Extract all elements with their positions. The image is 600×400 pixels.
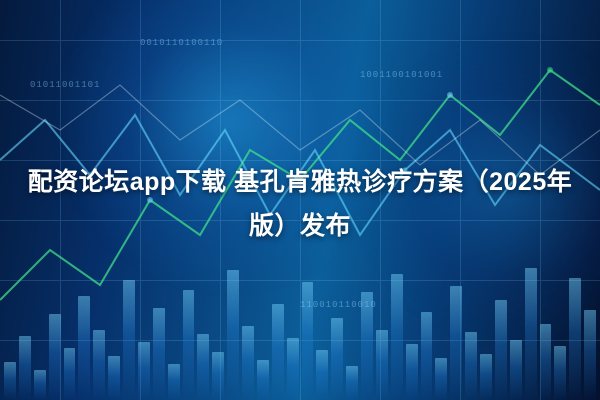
ticker-text-2: 1001100101001	[360, 70, 443, 80]
data-point	[447, 92, 453, 98]
data-point	[547, 67, 553, 73]
promo-banner: 0010110100110 1001100101001 01011001101 …	[0, 0, 600, 400]
ticker-text-1: 0010110100110	[140, 38, 223, 48]
ticker-text-4: 110010110010	[300, 300, 377, 310]
headline-text: 配资论坛app下载 基孔肯雅热诊疗方案（2025年版）发布	[0, 160, 600, 248]
ticker-text-3: 01011001101	[30, 80, 100, 90]
